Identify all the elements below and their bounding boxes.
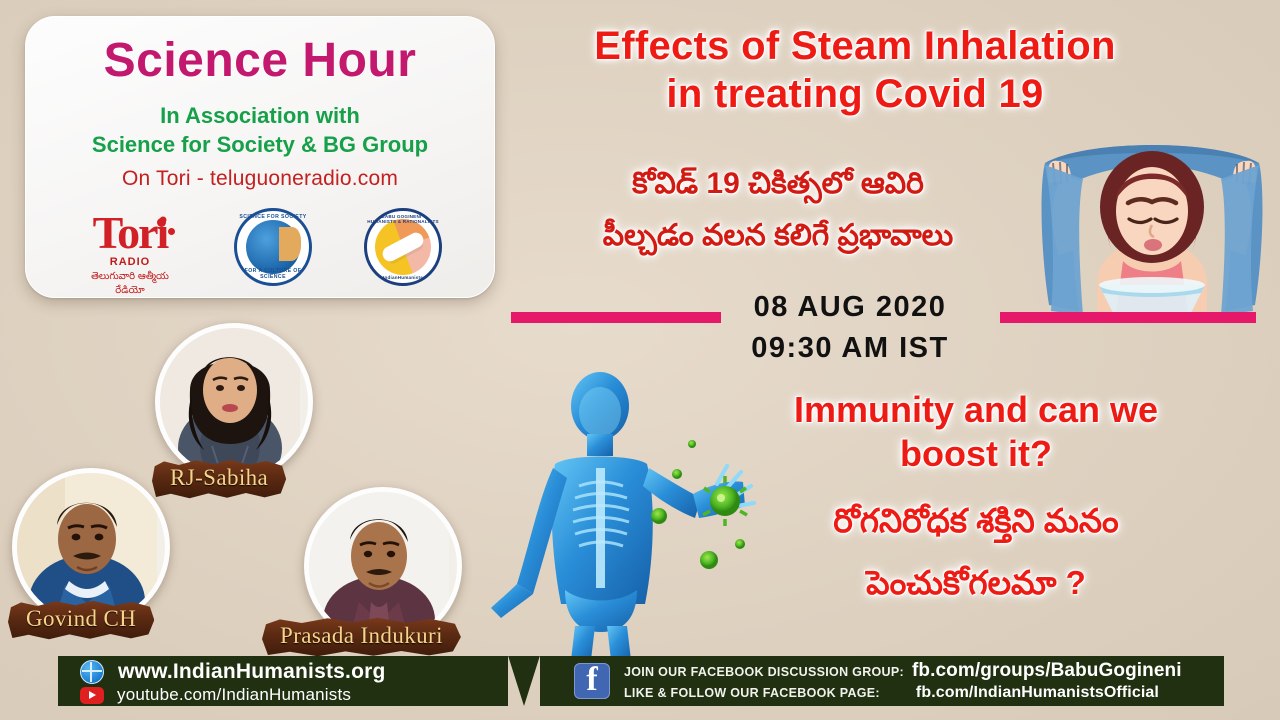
avatar-rj-sabiha <box>155 323 313 481</box>
youtube-icon <box>80 687 104 704</box>
topic-english: Immunity and can we boost it? <box>680 388 1272 476</box>
schedule-block: 08 AUG 2020 09:30 AM IST <box>680 287 1020 369</box>
event-time: 09:30 AM IST <box>680 328 1020 369</box>
headline-telugu-line-2: పీల్చడం వలన కలిగే ప్రభావాలు <box>498 210 1058 262</box>
poster-canvas: Science Hour In Association with Science… <box>0 0 1280 720</box>
tori-radio-subtext: RADIO <box>78 256 182 268</box>
nameplate-prasada-indukuri: Prasada Indukuri <box>262 617 461 657</box>
science-for-society-logo: SCIENCE FOR SOCIETY FOR A CULTURE OF SCI… <box>234 208 312 286</box>
facebook-page-row[interactable]: LIKE & FOLLOW OUR FACEBOOK PAGE: fb.com/… <box>624 684 1159 702</box>
nameplate-govind-ch: Govind CH <box>8 600 154 640</box>
tori-radio-logo: Tori RADIO తెలుగువారి ఆత్మీయ రేడియో <box>78 208 182 286</box>
topic-te-line-2: పెంచుకోగలమా ? <box>672 552 1280 614</box>
footer-bar: www.IndianHumanists.org youtube.com/Indi… <box>58 656 1224 706</box>
science-hour-title: Science Hour <box>26 33 494 88</box>
youtube-url[interactable]: youtube.com/IndianHumanists <box>117 685 351 705</box>
facebook-group-link[interactable]: fb.com/groups/BabuGogineni <box>912 660 1182 682</box>
facebook-page-link[interactable]: fb.com/IndianHumanistsOfficial <box>916 684 1159 702</box>
tori-note-dot-2-icon <box>168 228 175 235</box>
association-line-2: Science for Society & BG Group <box>26 132 494 158</box>
facebook-group-label: JOIN OUR FACEBOOK DISCUSSION GROUP: <box>624 665 904 679</box>
facebook-icon-wrap[interactable]: f <box>574 663 610 699</box>
facebook-icon[interactable]: f <box>574 663 610 699</box>
topic-en-line-1: Immunity and can we <box>680 388 1272 432</box>
sfs-ring-text: SCIENCE FOR SOCIETY FOR A CULTURE OF SCI… <box>237 211 309 283</box>
nameplate-rj-sabiha: RJ-Sabiha <box>152 459 286 499</box>
humanists-bottom-text: IndianHumanists <box>367 275 439 280</box>
tori-wordmark: Tori <box>84 208 176 260</box>
tori-note-dot-icon <box>157 218 166 227</box>
website-row[interactable]: www.IndianHumanists.org <box>80 660 386 684</box>
poster-headline-telugu: కోవిడ్ 19 చికిత్సలో ఆవిరి పీల్చడం వలన కల… <box>498 158 1058 262</box>
poster-headline: Effects of Steam Inhalation in treating … <box>505 22 1205 118</box>
youtube-row[interactable]: youtube.com/IndianHumanists <box>80 685 351 705</box>
tori-telugu-tagline: తెలుగువారి ఆత్మీయ రేడియో <box>78 270 182 298</box>
association-line-1: In Association with <box>26 103 494 129</box>
science-hour-card: Science Hour In Association with Science… <box>25 16 495 298</box>
website-url[interactable]: www.IndianHumanists.org <box>118 660 386 684</box>
babu-gogineni-humanists-logo: BABU GOGINENI - HUMANISTS & RATIONALISTS… <box>364 208 442 286</box>
sfs-top-text: SCIENCE FOR SOCIETY <box>237 214 309 220</box>
footer-notch-right-fill <box>540 656 560 706</box>
headline-line-2: in treating Covid 19 <box>505 70 1205 118</box>
headline-line-1: Effects of Steam Inhalation <box>594 24 1116 68</box>
headline-telugu-line-1: కోవిడ్ 19 చికిత్సలో ఆవిరి <box>498 158 1058 210</box>
humanists-top-text: BABU GOGINENI - HUMANISTS & RATIONALISTS <box>367 214 439 224</box>
topic-telugu: రోగనిరోధక శక్తిని మనం పెంచుకోగలమా ? <box>672 490 1280 614</box>
accent-bar-right <box>1000 312 1256 323</box>
topic-te-line-1: రోగనిరోధక శక్తిని మనం <box>672 490 1280 552</box>
partner-logo-row: Tori RADIO తెలుగువారి ఆత్మీయ రేడియో SCIE… <box>26 207 494 287</box>
topic-en-line-2: boost it? <box>680 432 1272 476</box>
facebook-group-row[interactable]: JOIN OUR FACEBOOK DISCUSSION GROUP: fb.c… <box>624 660 1182 682</box>
event-date: 08 AUG 2020 <box>680 287 1020 328</box>
facebook-page-label: LIKE & FOLLOW OUR FACEBOOK PAGE: <box>624 686 880 700</box>
globe-icon <box>80 660 104 684</box>
sfs-bottom-text: FOR A CULTURE OF SCIENCE <box>237 268 309 280</box>
footer-notch-left-fill <box>488 656 508 706</box>
platform-line: On Tori - teluguoneradio.com <box>26 167 494 191</box>
steam-inhalation-illustration <box>1027 135 1277 320</box>
